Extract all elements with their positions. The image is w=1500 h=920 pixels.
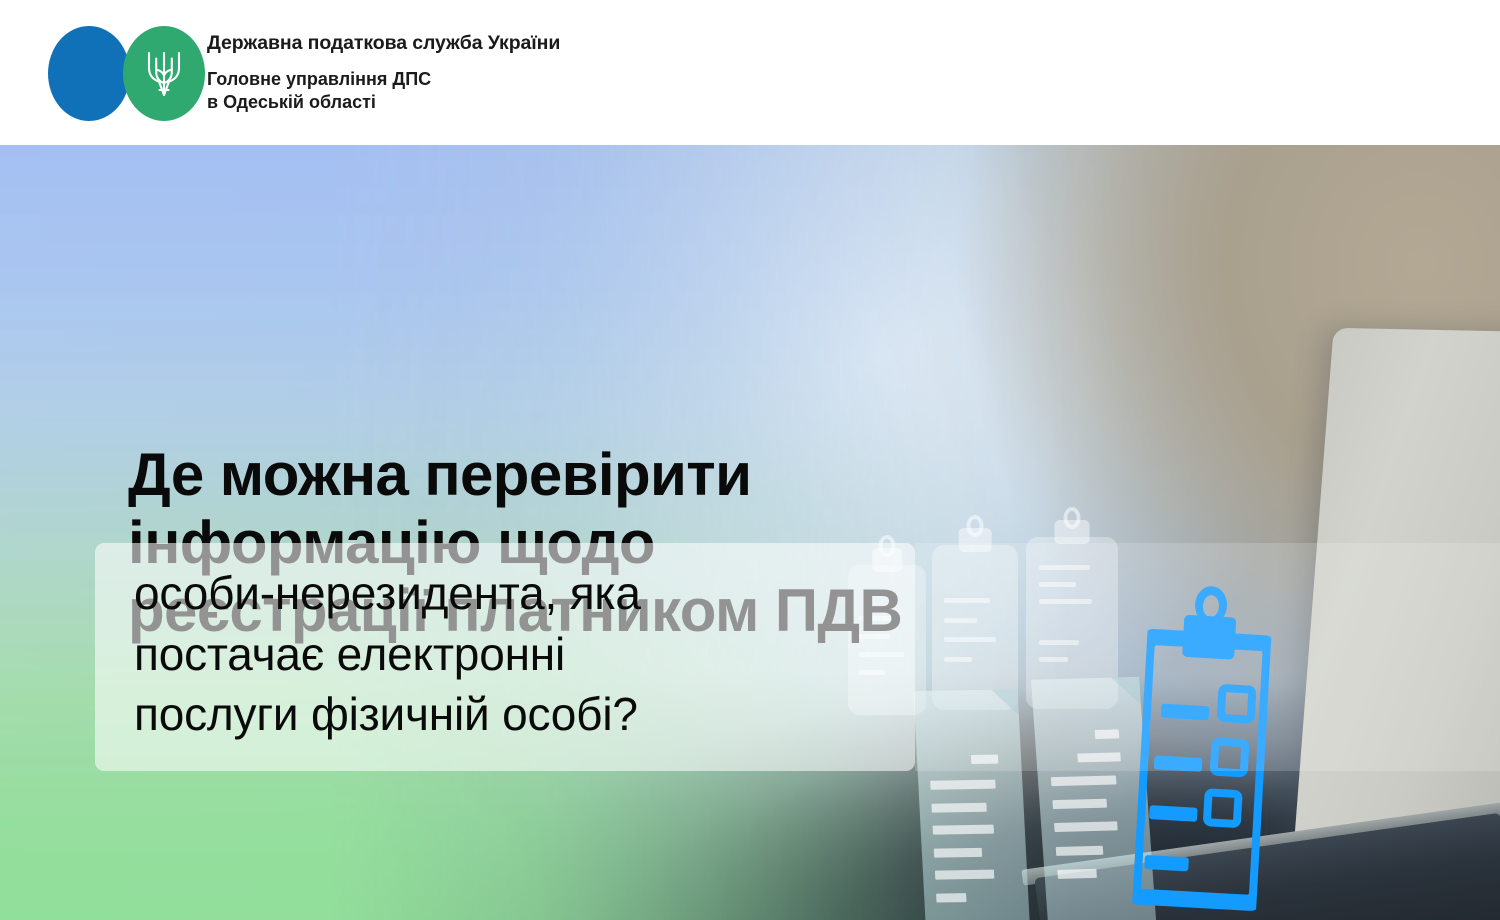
- dps-informational-poster: Де можна перевірити інформацію щодо реєс…: [0, 0, 1500, 920]
- page-subtitle: особи-нерезидента, яка постачає електрон…: [134, 563, 894, 745]
- document-line: [1052, 799, 1107, 809]
- brand-text-block: Державна податкова служба України Головн…: [207, 33, 560, 115]
- document-line: [937, 893, 967, 902]
- dps-logo-blue-circle: [48, 26, 130, 121]
- poster-background-canvas: Де можна перевірити інформацію щодо реєс…: [0, 145, 1500, 920]
- document-line: [1057, 869, 1097, 879]
- document-line: [932, 802, 987, 812]
- document-line: [931, 780, 996, 790]
- document-line: [1054, 822, 1117, 833]
- dps-logo: [48, 26, 208, 121]
- document-line: [935, 870, 994, 880]
- organization-title: Державна податкова служба України: [207, 33, 560, 54]
- document-line: [1056, 845, 1104, 855]
- document-line: [933, 825, 994, 835]
- document-line: [1051, 775, 1116, 786]
- brand-header: Державна податкова служба України Головн…: [0, 0, 1500, 145]
- department-title: Головне управління ДПС в Одеській област…: [207, 68, 560, 114]
- ukraine-trident-icon: [144, 48, 184, 100]
- document-line: [934, 847, 982, 857]
- subtitle-panel-extension: [915, 543, 1500, 771]
